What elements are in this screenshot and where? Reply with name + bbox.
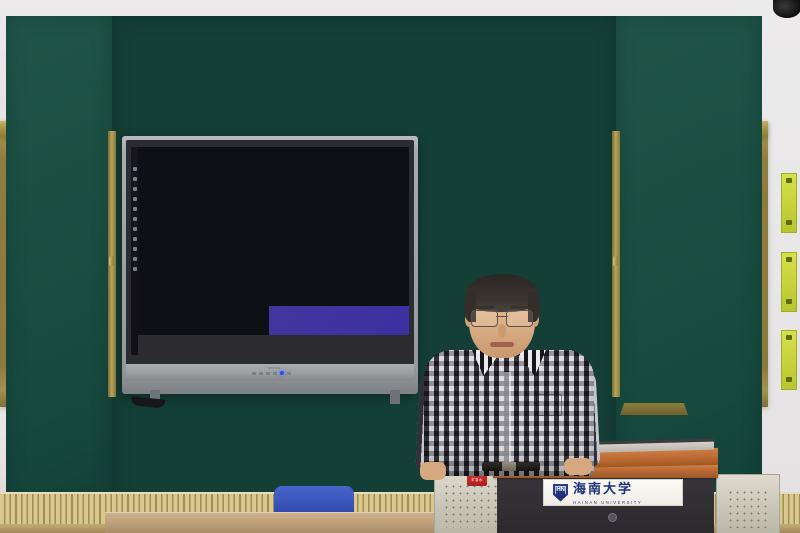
plaque-name-cn: 海南大学 — [573, 482, 633, 497]
chalkboard-knob-left — [109, 256, 114, 266]
pen-icon[interactable] — [133, 177, 137, 181]
settings-icon[interactable] — [133, 257, 137, 261]
hainan-university-shield-icon: HN — [553, 484, 568, 502]
menu-icon[interactable] — [133, 167, 137, 171]
save-icon[interactable] — [133, 247, 137, 251]
select-icon[interactable] — [133, 207, 137, 211]
presenter-figure — [424, 276, 594, 476]
blue-chair — [274, 486, 354, 514]
wall-strip-3 — [781, 330, 797, 390]
undo-icon[interactable] — [133, 217, 137, 221]
bottle-label-text: 矿泉水 — [467, 477, 487, 482]
slide-top-band — [269, 306, 409, 335]
more-icon[interactable] — [133, 267, 137, 271]
home-button[interactable] — [287, 372, 291, 375]
volume-up-button[interactable] — [273, 372, 277, 375]
presentation-slide[interactable]: 兰州大学 1909 LANZHOU UNIVERSITY 思想政治教育学科的发展… — [269, 306, 409, 335]
presenter-nose — [498, 324, 506, 338]
speaker-grille-icon — [727, 489, 771, 528]
lecture-hall-photo: 兰州大学 1909 LANZHOU UNIVERSITY 思想政治教育学科的发展… — [0, 0, 800, 533]
power-button[interactable] — [252, 372, 256, 375]
eraser-icon[interactable] — [133, 187, 137, 191]
presenter-mouth — [490, 342, 514, 347]
shirt-pocket — [536, 394, 562, 416]
source-button[interactable] — [259, 372, 263, 375]
presenter-hand-left — [420, 462, 446, 480]
chalk-tray — [620, 403, 688, 415]
wall-strip-1 — [781, 173, 797, 233]
podium-plaque: HN 海南大学 HAINAN UNIVERSITY — [543, 479, 683, 506]
smartboard-button-row[interactable] — [252, 371, 291, 375]
smartboard-brand-label: seewo — [268, 366, 280, 370]
speaker-right — [716, 474, 780, 533]
wall-strip-2 — [781, 252, 797, 312]
smartboard-toolbar[interactable] — [131, 147, 138, 355]
chalkboard-knob-right — [613, 256, 618, 266]
shirt-placket — [504, 372, 511, 470]
ceiling-speaker-icon — [773, 0, 800, 18]
presenter-hand-right — [564, 458, 592, 475]
page-icon[interactable] — [133, 237, 137, 241]
shape-icon[interactable] — [133, 197, 137, 201]
volume-down-button[interactable] — [266, 372, 270, 375]
front-desk — [105, 512, 450, 533]
chalkboard-panel-left — [6, 16, 112, 515]
smartboard-screen[interactable]: 兰州大学 1909 LANZHOU UNIVERSITY 思想政治教育学科的发展… — [131, 147, 409, 335]
shield-initials: HN — [553, 487, 568, 493]
redo-icon[interactable] — [133, 227, 137, 231]
plaque-text-block: 海南大学 HAINAN UNIVERSITY — [573, 480, 642, 505]
speaker-grille-icon — [443, 483, 500, 528]
power-led-indicator — [280, 371, 284, 375]
belt-buckle — [502, 462, 516, 471]
plaque-name-en: HAINAN UNIVERSITY — [573, 500, 642, 505]
smartboard-mount-right — [390, 390, 400, 404]
podium-lock-icon — [608, 513, 617, 522]
